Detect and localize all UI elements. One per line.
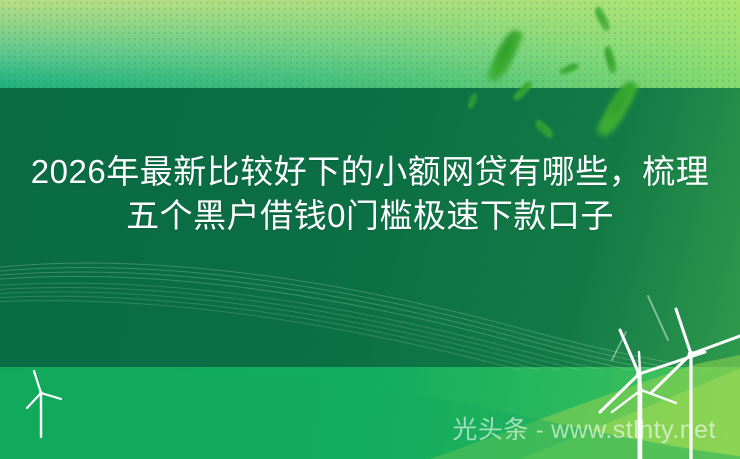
watermark: 光头条 - www.stlhty.net: [452, 410, 716, 446]
leaf-icon: [533, 119, 556, 140]
title-container: 2026年最新比较好下的小额网贷有哪些，梳理五个黑户借钱0门槛极速下款口子: [0, 150, 740, 238]
article-cover-banner: 2026年最新比较好下的小额网贷有哪些，梳理五个黑户借钱0门槛极速下款口子 光头…: [0, 0, 740, 459]
leaf-icon: [602, 45, 619, 74]
watermark-site-name: 光头条: [452, 410, 529, 446]
leaf-icon: [467, 92, 478, 109]
leaf-icon: [595, 77, 641, 141]
page-title: 2026年最新比较好下的小额网贷有哪些，梳理五个黑户借钱0门槛极速下款口子: [28, 150, 712, 238]
watermark-url: www.stlhty.net: [551, 416, 716, 445]
leaf-icon: [558, 61, 579, 77]
watermark-separator: -: [536, 417, 544, 444]
leaf-icon: [512, 79, 534, 103]
leaf-icon: [592, 5, 613, 32]
leaf-icon: [485, 27, 524, 85]
falling-leaves-decoration: [420, 0, 740, 175]
